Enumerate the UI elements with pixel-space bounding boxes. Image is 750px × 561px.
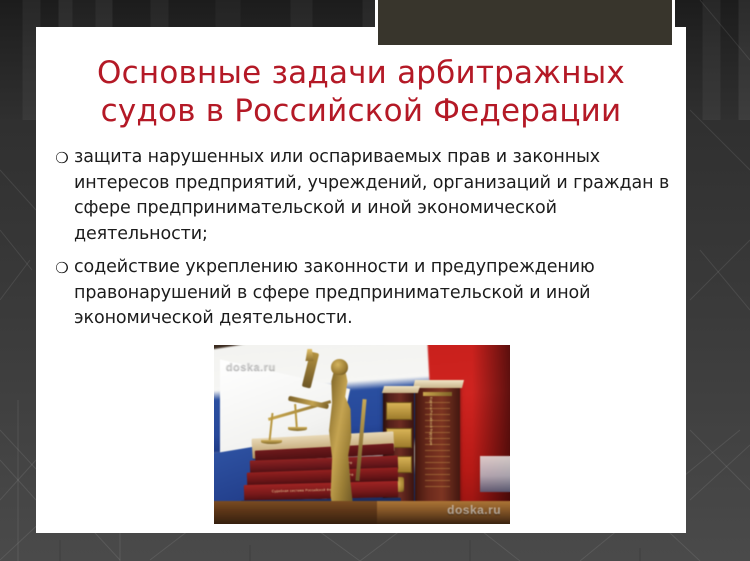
justice-statue-photo: Кодексы Российской Федерации ТК РФ ГПК Р… — [214, 345, 510, 524]
bullet-list: ❍ защита нарушенных или оспариваемых пра… — [50, 145, 680, 340]
ring-bullet-icon: ❍ — [50, 145, 74, 166]
volume-spine-label: Кодексы Российской Федерации — [429, 397, 433, 445]
photo-right-flag-slip — [480, 456, 510, 492]
ring-bullet-icon: ❍ — [50, 255, 74, 276]
presentation-slide: Основные задачи арбитражных судов в Росс… — [0, 0, 750, 561]
photo-table-reflection — [377, 501, 510, 524]
photo-red-shadow — [472, 345, 510, 524]
top-decorative-banner — [375, 0, 675, 48]
slide-title: Основные задачи арбитражных судов в Росс… — [46, 54, 676, 130]
photo-volume-left-pages — [382, 386, 420, 393]
photo-volume-right-pages — [413, 380, 464, 388]
content-panel: Основные задачи арбитражных судов в Росс… — [36, 27, 686, 533]
bullet-text-1: защита нарушенных или оспариваемых прав … — [74, 145, 680, 247]
list-item: ❍ защита нарушенных или оспариваемых пра… — [50, 145, 680, 247]
photo-upright-volume-right: Кодексы Российской Федерации — [415, 384, 459, 509]
slide-title-line-1: Основные задачи арбитражных — [46, 54, 676, 92]
photo-statue-head — [331, 359, 348, 375]
list-item: ❍ содействие укреплению законности и пре… — [50, 255, 680, 332]
slide-title-line-2: судов в Российской Федерации — [46, 92, 676, 130]
bullet-text-2: содействие укреплению законности и преду… — [74, 255, 680, 332]
